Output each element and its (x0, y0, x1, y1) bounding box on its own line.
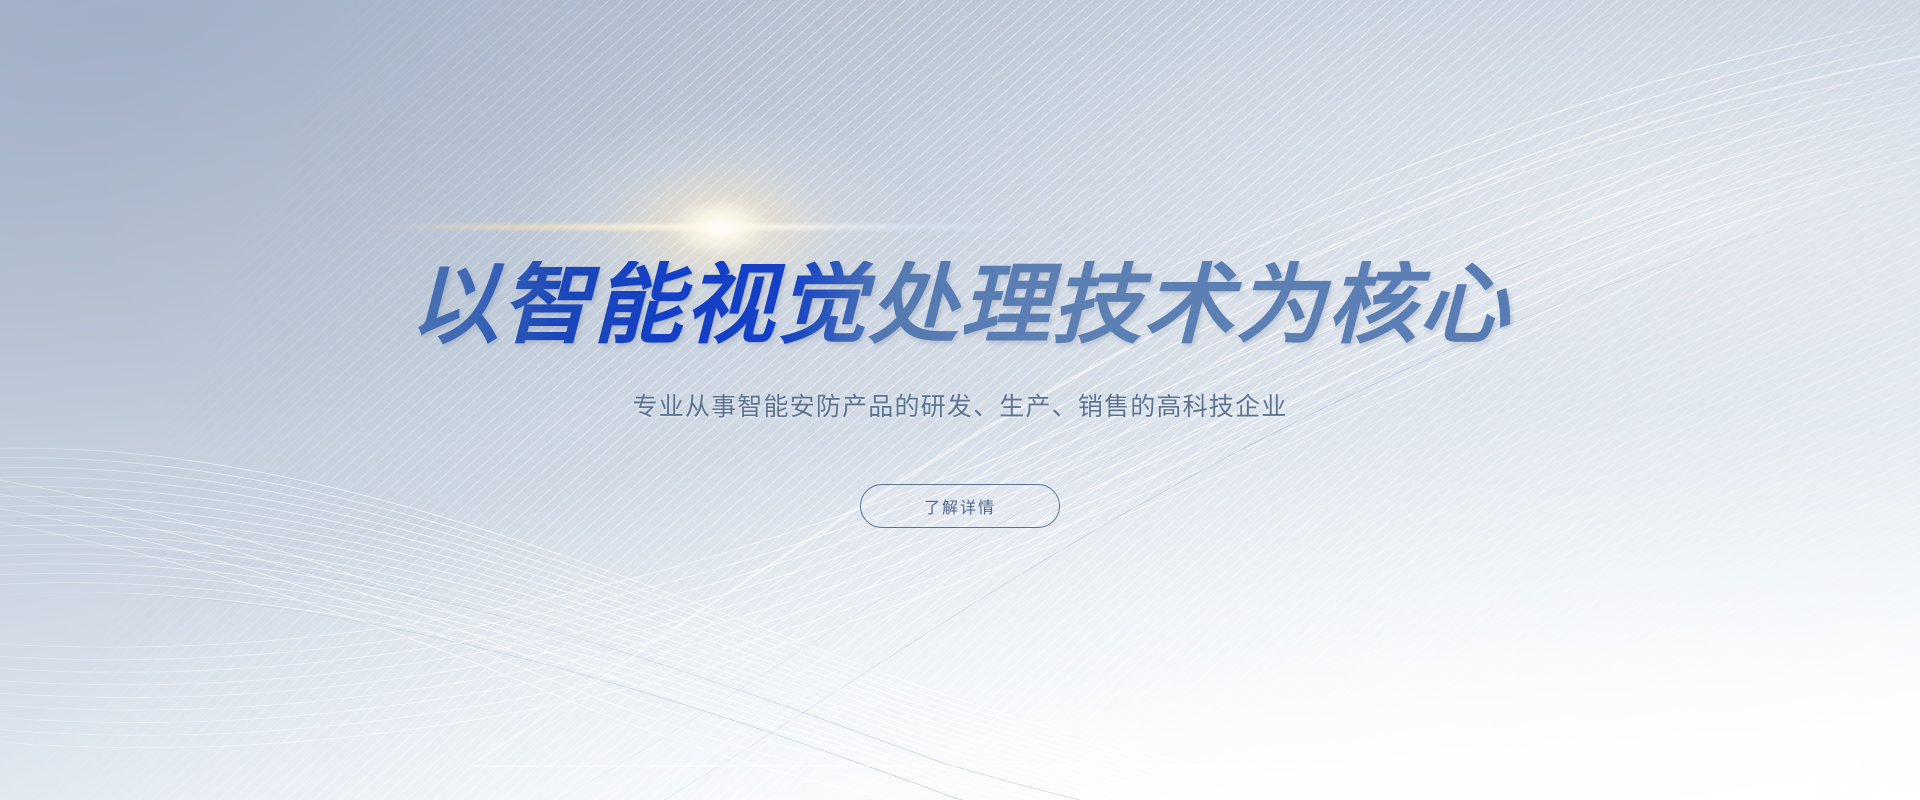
learn-more-button[interactable]: 了解详情 (860, 484, 1060, 528)
hero-subtitle: 专业从事智能安防产品的研发、生产、销售的高科技企业 (632, 391, 1287, 424)
hero-banner: 以智能视觉处理技术为核心 专业从事智能安防产品的研发、生产、销售的高科技企业 了… (0, 0, 1920, 800)
hero-title: 以智能视觉处理技术为核心 (409, 261, 1511, 349)
